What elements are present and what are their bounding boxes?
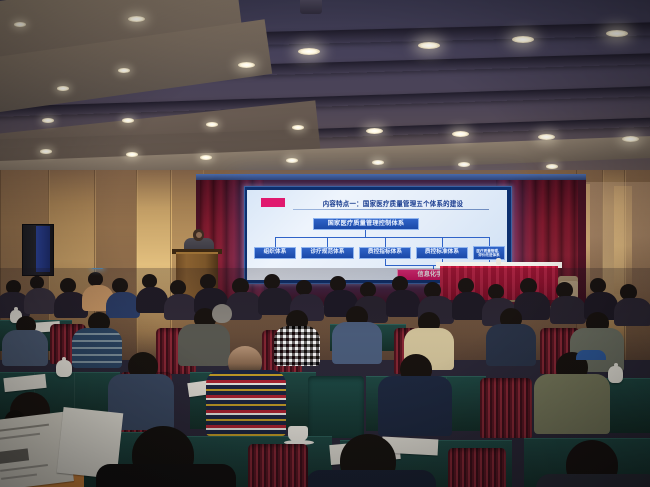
ceiling-spotlight <box>366 128 383 134</box>
ceiling-spotlight <box>122 118 134 123</box>
ceiling-spotlight <box>118 68 130 73</box>
ceiling-spotlight <box>200 155 212 160</box>
ceiling-spotlight <box>458 162 470 167</box>
diagram-connector <box>327 237 328 247</box>
slide-heading-underline <box>293 209 489 210</box>
conference-hall-photo: 内容特点一：国家医疗质量管理五个体系的建设 国家医疗质量管理控制体系 组织体系 … <box>0 0 650 487</box>
ceiling-spotlight <box>286 158 298 163</box>
ceiling-spotlight <box>546 164 558 169</box>
ceiling-spotlight <box>292 125 304 130</box>
ceiling-spotlight <box>606 30 628 37</box>
ceiling-spotlight <box>372 160 384 165</box>
diagram-branch-node: 质控指标体系 <box>359 247 411 259</box>
ceiling-spotlight <box>512 36 534 43</box>
diagram-connector <box>275 237 276 247</box>
ceiling-air-vent <box>300 0 322 14</box>
microphone-icon <box>496 258 501 265</box>
ceiling-spotlight <box>128 16 145 22</box>
ceiling-spotlight <box>298 48 320 55</box>
ceiling-spotlight <box>14 22 26 27</box>
diagram-connector <box>489 237 490 246</box>
ceiling-spotlight <box>206 122 218 127</box>
diagram-branch-node: 质控标准体系 <box>416 247 468 259</box>
ceiling <box>0 0 650 185</box>
diagram-branch-node: 组织体系 <box>254 247 296 259</box>
ceiling-spotlight <box>126 152 138 157</box>
pa-speaker-panel <box>36 226 50 272</box>
ceiling-spotlight <box>538 134 555 140</box>
presenter-face <box>196 232 202 238</box>
diagram-connector <box>385 237 386 247</box>
ceiling-spotlight <box>57 86 69 91</box>
scene-haze <box>0 268 650 487</box>
diagram-connector <box>442 237 443 247</box>
ceiling-spotlight <box>452 131 469 137</box>
slide-accent-block <box>261 198 285 207</box>
diagram-connector <box>275 237 489 238</box>
ceiling-spotlight <box>238 62 255 68</box>
ceiling-spotlight <box>40 149 52 154</box>
diagram-root-node: 国家医疗质量管理控制体系 <box>313 218 419 230</box>
diagram-branch-node: 诊疗规范体系 <box>301 247 354 259</box>
ceiling-spotlight <box>42 118 54 123</box>
ceiling-spotlight <box>622 136 639 142</box>
slide-heading: 内容特点一：国家医疗质量管理五个体系的建设 <box>293 199 493 208</box>
ceiling-spotlight <box>418 42 440 49</box>
curtain-rail <box>196 174 586 180</box>
diagram-connector <box>365 230 366 237</box>
